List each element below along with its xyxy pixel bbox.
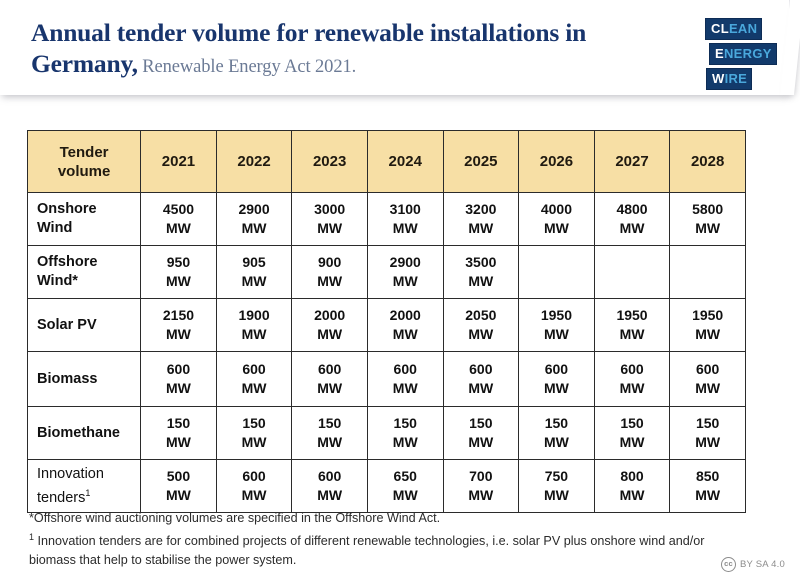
cell-unit: MW bbox=[368, 219, 443, 238]
cell-unit: MW bbox=[141, 325, 216, 344]
row-label-line-2: Wind* bbox=[37, 272, 140, 291]
corner-header-line-2: volume bbox=[28, 162, 140, 181]
cell-offshore-2021: 950MW bbox=[141, 246, 217, 299]
row-label-line-1: Onshore bbox=[37, 200, 140, 219]
cell-biomass-2027: 600MW bbox=[594, 352, 670, 407]
title-country: Germany, bbox=[31, 49, 138, 78]
cell-unit: MW bbox=[595, 325, 670, 344]
column-header-2027: 2027 bbox=[594, 131, 670, 193]
column-header-2028: 2028 bbox=[670, 131, 746, 193]
cell-unit: MW bbox=[368, 486, 443, 505]
cell-value: 600 bbox=[141, 360, 216, 379]
cell-offshore-2028 bbox=[670, 246, 746, 299]
cell-value: 3100 bbox=[368, 200, 443, 219]
footnote-marker: 1 bbox=[85, 488, 90, 498]
row-label-biomethane: Biomethane bbox=[28, 407, 141, 460]
cell-unit: MW bbox=[141, 219, 216, 238]
cell-unit: MW bbox=[141, 433, 216, 452]
cell-value: 4500 bbox=[141, 200, 216, 219]
cell-biomass-2023: 600MW bbox=[292, 352, 368, 407]
title-line-1: Annual tender volume for renewable insta… bbox=[31, 17, 671, 48]
logo-clean-rest: EAN bbox=[729, 21, 757, 36]
cell-value: 150 bbox=[519, 414, 594, 433]
cell-value: 905 bbox=[217, 253, 292, 272]
cell-value: 5800 bbox=[670, 200, 745, 219]
cell-innovation-2025: 700MW bbox=[443, 460, 519, 513]
cell-value: 2900 bbox=[368, 253, 443, 272]
cell-biomethane-2025: 150MW bbox=[443, 407, 519, 460]
cell-biomass-2025: 600MW bbox=[443, 352, 519, 407]
cell-offshore-2025: 3500MW bbox=[443, 246, 519, 299]
footnotes: *Offshore wind auctioning volumes are sp… bbox=[29, 509, 719, 570]
cell-unit: MW bbox=[595, 433, 670, 452]
cell-value: 950 bbox=[141, 253, 216, 272]
table-corner-header: Tender volume bbox=[28, 131, 141, 193]
row-label-biomass: Biomass bbox=[28, 352, 141, 407]
table-header: Tender volume 2021 2022 2023 2024 2025 2… bbox=[28, 131, 746, 193]
cell-solar-2024: 2000MW bbox=[367, 299, 443, 352]
cell-biomass-2021: 600MW bbox=[141, 352, 217, 407]
cell-value: 2150 bbox=[141, 306, 216, 325]
logo-energy-rest: NERGY bbox=[724, 46, 772, 61]
header-card: Annual tender volume for renewable insta… bbox=[0, 0, 790, 95]
cell-onshore-2027: 4800MW bbox=[594, 193, 670, 246]
creative-commons-badge: cc BY SA 4.0 bbox=[721, 557, 785, 572]
cell-onshore-2022: 2900MW bbox=[216, 193, 292, 246]
cell-value: 2900 bbox=[217, 200, 292, 219]
cell-biomethane-2021: 150MW bbox=[141, 407, 217, 460]
cell-unit: MW bbox=[217, 325, 292, 344]
cell-offshore-2027 bbox=[594, 246, 670, 299]
cell-unit: MW bbox=[292, 219, 367, 238]
cell-value: 3200 bbox=[444, 200, 519, 219]
cell-biomass-2022: 600MW bbox=[216, 352, 292, 407]
cell-unit: MW bbox=[595, 486, 670, 505]
cell-value: 4000 bbox=[519, 200, 594, 219]
logo-energy-first: E bbox=[715, 46, 724, 61]
cell-offshore-2022: 905MW bbox=[216, 246, 292, 299]
logo-row-energy: ENERGY bbox=[709, 43, 777, 65]
cell-value: 1950 bbox=[670, 306, 745, 325]
cell-value: 2000 bbox=[368, 306, 443, 325]
cell-offshore-2026 bbox=[519, 246, 595, 299]
footnote-innovation-text: Innovation tenders are for combined proj… bbox=[29, 534, 704, 567]
table-row: Biomass 600MW 600MW 600MW 600MW 600MW 60… bbox=[28, 352, 746, 407]
cell-value: 850 bbox=[670, 467, 745, 486]
cell-unit: MW bbox=[217, 486, 292, 505]
cell-value: 2000 bbox=[292, 306, 367, 325]
table-row: Onshore Wind 4500MW 2900MW 3000MW 3100MW… bbox=[28, 193, 746, 246]
cell-unit: MW bbox=[292, 325, 367, 344]
cell-value: 1950 bbox=[519, 306, 594, 325]
logo-clean-first: CL bbox=[711, 21, 729, 36]
cell-offshore-2024: 2900MW bbox=[367, 246, 443, 299]
cell-biomass-2026: 600MW bbox=[519, 352, 595, 407]
cell-unit: MW bbox=[595, 379, 670, 398]
cell-value: 600 bbox=[292, 467, 367, 486]
cell-innovation-2023: 600MW bbox=[292, 460, 368, 513]
cell-solar-2021: 2150MW bbox=[141, 299, 217, 352]
cell-onshore-2026: 4000MW bbox=[519, 193, 595, 246]
cell-value: 150 bbox=[595, 414, 670, 433]
cell-unit: MW bbox=[670, 325, 745, 344]
cell-unit: MW bbox=[519, 433, 594, 452]
cell-biomethane-2026: 150MW bbox=[519, 407, 595, 460]
cell-value: 150 bbox=[141, 414, 216, 433]
cell-solar-2023: 2000MW bbox=[292, 299, 368, 352]
cell-value: 1950 bbox=[595, 306, 670, 325]
cell-biomethane-2023: 150MW bbox=[292, 407, 368, 460]
cell-value: 500 bbox=[141, 467, 216, 486]
cell-unit: MW bbox=[141, 272, 216, 291]
logo-row-wire: WIRE bbox=[706, 68, 752, 90]
cell-value: 600 bbox=[292, 360, 367, 379]
row-label-line-1: Offshore bbox=[37, 253, 140, 272]
column-header-2022: 2022 bbox=[216, 131, 292, 193]
cell-solar-2026: 1950MW bbox=[519, 299, 595, 352]
cell-value: 150 bbox=[368, 414, 443, 433]
logo-wire-first: W bbox=[712, 71, 725, 86]
logo-wire-rest: IRE bbox=[725, 71, 748, 86]
cell-value: 600 bbox=[444, 360, 519, 379]
cell-unit: MW bbox=[670, 219, 745, 238]
table-row: Solar PV 2150MW 1900MW 2000MW 2000MW 205… bbox=[28, 299, 746, 352]
cell-value: 700 bbox=[444, 467, 519, 486]
cell-unit: MW bbox=[292, 486, 367, 505]
cell-unit: MW bbox=[368, 379, 443, 398]
cell-value: 150 bbox=[292, 414, 367, 433]
cell-value: 750 bbox=[519, 467, 594, 486]
cell-onshore-2021: 4500MW bbox=[141, 193, 217, 246]
table-row: Innovation tenders1 500MW 600MW 600MW 65… bbox=[28, 460, 746, 513]
cell-solar-2028: 1950MW bbox=[670, 299, 746, 352]
cell-solar-2022: 1900MW bbox=[216, 299, 292, 352]
cell-value: 800 bbox=[595, 467, 670, 486]
cell-onshore-2024: 3100MW bbox=[367, 193, 443, 246]
logo-row-clean: CLEAN bbox=[705, 18, 762, 40]
cell-innovation-2024: 650MW bbox=[367, 460, 443, 513]
clean-energy-wire-logo: CLEAN ENERGY WIRE bbox=[705, 18, 765, 93]
cell-unit: MW bbox=[217, 433, 292, 452]
cell-solar-2025: 2050MW bbox=[443, 299, 519, 352]
cell-unit: MW bbox=[519, 486, 594, 505]
cell-unit: MW bbox=[595, 219, 670, 238]
cell-unit: MW bbox=[368, 325, 443, 344]
title-subtitle: Renewable Energy Act 2021. bbox=[138, 57, 356, 77]
row-label-onshore-wind: Onshore Wind bbox=[28, 193, 141, 246]
cell-value: 600 bbox=[670, 360, 745, 379]
cell-value: 3000 bbox=[292, 200, 367, 219]
cell-value: 150 bbox=[670, 414, 745, 433]
cell-unit: MW bbox=[141, 486, 216, 505]
cell-onshore-2028: 5800MW bbox=[670, 193, 746, 246]
cell-biomethane-2022: 150MW bbox=[216, 407, 292, 460]
cell-value: 1900 bbox=[217, 306, 292, 325]
cell-value: 900 bbox=[292, 253, 367, 272]
cell-unit: MW bbox=[444, 486, 519, 505]
cell-innovation-2022: 600MW bbox=[216, 460, 292, 513]
cell-biomethane-2024: 150MW bbox=[367, 407, 443, 460]
title-line-2: Germany, Renewable Energy Act 2021. bbox=[31, 48, 671, 83]
cell-unit: MW bbox=[444, 219, 519, 238]
cell-innovation-2028: 850MW bbox=[670, 460, 746, 513]
cell-value: 4800 bbox=[595, 200, 670, 219]
row-label-line-1: Innovation bbox=[37, 465, 140, 484]
cell-unit: MW bbox=[217, 379, 292, 398]
row-label-offshore-wind: Offshore Wind* bbox=[28, 246, 141, 299]
column-header-2026: 2026 bbox=[519, 131, 595, 193]
cell-unit: MW bbox=[292, 433, 367, 452]
cell-value: 2050 bbox=[444, 306, 519, 325]
cell-unit: MW bbox=[670, 486, 745, 505]
cell-value: 600 bbox=[595, 360, 670, 379]
cell-unit: MW bbox=[670, 433, 745, 452]
column-header-2025: 2025 bbox=[443, 131, 519, 193]
cell-value: 3500 bbox=[444, 253, 519, 272]
column-header-2023: 2023 bbox=[292, 131, 368, 193]
row-label-innovation-tenders: Innovation tenders1 bbox=[28, 460, 141, 513]
cell-biomethane-2027: 150MW bbox=[594, 407, 670, 460]
cell-unit: MW bbox=[444, 379, 519, 398]
row-label-line-2: Wind bbox=[37, 219, 140, 238]
cell-solar-2027: 1950MW bbox=[594, 299, 670, 352]
footnote-innovation: 1 Innovation tenders are for combined pr… bbox=[29, 528, 719, 570]
cell-value: 600 bbox=[368, 360, 443, 379]
cell-value: 650 bbox=[368, 467, 443, 486]
cell-unit: MW bbox=[519, 219, 594, 238]
table-header-row: Tender volume 2021 2022 2023 2024 2025 2… bbox=[28, 131, 746, 193]
cell-biomass-2024: 600MW bbox=[367, 352, 443, 407]
tender-volume-table: Tender volume 2021 2022 2023 2024 2025 2… bbox=[27, 130, 746, 513]
cell-onshore-2025: 3200MW bbox=[443, 193, 519, 246]
cell-innovation-2027: 800MW bbox=[594, 460, 670, 513]
cell-value: 150 bbox=[444, 414, 519, 433]
footnote-offshore: *Offshore wind auctioning volumes are sp… bbox=[29, 509, 719, 528]
table-body: Onshore Wind 4500MW 2900MW 3000MW 3100MW… bbox=[28, 193, 746, 513]
row-label-line-2: tenders1 bbox=[37, 484, 140, 508]
cell-unit: MW bbox=[368, 433, 443, 452]
cell-unit: MW bbox=[368, 272, 443, 291]
cell-innovation-2026: 750MW bbox=[519, 460, 595, 513]
cell-unit: MW bbox=[444, 433, 519, 452]
cell-value: 600 bbox=[519, 360, 594, 379]
cc-license-text: BY SA 4.0 bbox=[740, 559, 785, 570]
cell-biomass-2028: 600MW bbox=[670, 352, 746, 407]
cell-unit: MW bbox=[292, 379, 367, 398]
table-row: Offshore Wind* 950MW 905MW 900MW 2900MW … bbox=[28, 246, 746, 299]
cell-unit: MW bbox=[217, 219, 292, 238]
cell-unit: MW bbox=[519, 379, 594, 398]
cell-biomethane-2028: 150MW bbox=[670, 407, 746, 460]
cell-onshore-2023: 3000MW bbox=[292, 193, 368, 246]
row-label-text: tenders bbox=[37, 489, 85, 505]
cell-unit: MW bbox=[670, 379, 745, 398]
cell-unit: MW bbox=[444, 272, 519, 291]
corner-header-line-1: Tender bbox=[28, 143, 140, 162]
row-label-solar-pv: Solar PV bbox=[28, 299, 141, 352]
cell-offshore-2023: 900MW bbox=[292, 246, 368, 299]
cell-unit: MW bbox=[292, 272, 367, 291]
cc-icon: cc bbox=[721, 557, 736, 572]
cell-unit: MW bbox=[141, 379, 216, 398]
column-header-2021: 2021 bbox=[141, 131, 217, 193]
cell-value: 600 bbox=[217, 467, 292, 486]
cell-innovation-2021: 500MW bbox=[141, 460, 217, 513]
cell-unit: MW bbox=[519, 325, 594, 344]
column-header-2024: 2024 bbox=[367, 131, 443, 193]
cell-value: 150 bbox=[217, 414, 292, 433]
cell-value: 600 bbox=[217, 360, 292, 379]
cell-unit: MW bbox=[444, 325, 519, 344]
table-row: Biomethane 150MW 150MW 150MW 150MW 150MW… bbox=[28, 407, 746, 460]
cell-unit: MW bbox=[217, 272, 292, 291]
page-title: Annual tender volume for renewable insta… bbox=[31, 17, 671, 83]
